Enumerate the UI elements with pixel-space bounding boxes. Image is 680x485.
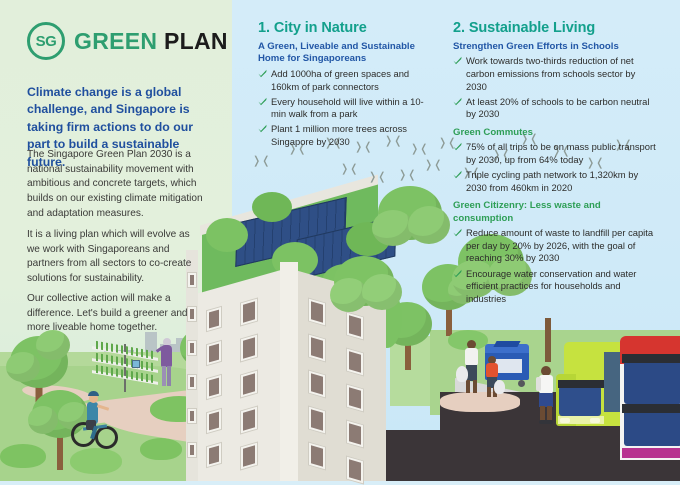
column-title: 2. Sustainable Living	[453, 20, 658, 36]
list-item-text: 75% of all trips to be on mass public tr…	[466, 141, 656, 165]
logo-wordmark: GREEN PLAN	[74, 28, 228, 55]
column-title: 1. City in Nature	[258, 20, 438, 36]
check-icon	[453, 142, 462, 151]
column-sustainable-living: 2. Sustainable Living Strengthen Green E…	[453, 20, 658, 311]
list-item: Plant 1 million more trees across Singap…	[258, 123, 438, 148]
check-icon	[453, 56, 462, 65]
check-icon	[258, 69, 267, 78]
intro-paragraph-1: The Singapore Green Plan 2030 is a natio…	[27, 148, 205, 221]
cyclist-on-bicycle	[70, 390, 122, 448]
list-item-text: Work towards two-thirds reduction of net…	[466, 55, 635, 91]
bird-icon: ❭❬	[398, 170, 416, 181]
list-item: Add 1000ha of green spaces and 160km of …	[258, 68, 438, 93]
list-item-text: Every household will live within a 10-mi…	[271, 96, 424, 120]
tree	[330, 252, 400, 342]
list-item: Work towards two-thirds reduction of net…	[453, 55, 658, 93]
brand-logo: SG GREEN PLAN	[27, 22, 228, 60]
logo-mark-text: SG	[36, 33, 57, 50]
list-item: Triple cycling path network to 1,320km b…	[453, 169, 658, 194]
double-decker-bus	[620, 330, 680, 480]
sg-circle-logo: SG	[27, 22, 65, 60]
check-icon	[453, 170, 462, 179]
bullet-list: Work towards two-thirds reduction of net…	[453, 55, 658, 120]
section-heading: Strengthen Green Efforts in Schools	[453, 41, 658, 53]
check-icon	[453, 269, 462, 278]
tree	[540, 318, 556, 362]
window	[187, 408, 197, 424]
list-item: At least 20% of schools to be carbon neu…	[453, 96, 658, 121]
section-heading: Green Citizenry: Less waste and consumpt…	[453, 200, 658, 225]
bird-icon: ❭❬	[252, 156, 270, 167]
check-icon	[258, 124, 267, 133]
check-icon	[258, 97, 267, 106]
intro-paragraph-3: Our collective action will make a differ…	[27, 292, 205, 336]
list-item-text: Reduce amount of waste to landfill per c…	[466, 227, 653, 263]
list-item: Encourage water conservation and water e…	[453, 268, 658, 306]
resident-with-waste-bag	[462, 340, 482, 394]
window	[187, 374, 197, 390]
farm-worker	[160, 338, 174, 386]
list-item-text: At least 20% of schools to be carbon neu…	[466, 96, 649, 120]
child-with-waste-bag	[484, 356, 502, 398]
list-item: Reduce amount of waste to landfill per c…	[453, 227, 658, 265]
column-city-in-nature: 1. City in Nature A Green, Liveable and …	[258, 20, 438, 155]
window	[187, 442, 197, 458]
check-icon	[453, 97, 462, 106]
bird-icon: ❭❬	[424, 160, 442, 171]
park-path	[440, 392, 520, 412]
vertical-farm	[92, 344, 162, 392]
bush	[140, 438, 182, 460]
student-with-backpack	[536, 366, 556, 424]
list-item-text: Plant 1 million more trees across Singap…	[271, 123, 407, 147]
bullet-list: Add 1000ha of green spaces and 160km of …	[258, 68, 438, 149]
list-item: Every household will live within a 10-mi…	[258, 96, 438, 121]
window	[187, 340, 197, 356]
list-item-text: Triple cycling path network to 1,320km b…	[466, 169, 638, 193]
section-heading: A Green, Liveable and Sustainable Home f…	[258, 41, 438, 66]
intro-paragraph-2: It is a living plan which will evolve as…	[27, 228, 205, 287]
bush	[70, 448, 122, 474]
bird-icon: ❭❬	[368, 172, 386, 183]
check-icon	[453, 228, 462, 237]
list-item-text: Add 1000ha of green spaces and 160km of …	[271, 68, 409, 92]
logo-word-dark: PLAN	[164, 28, 228, 54]
logo-word-green: GREEN	[74, 28, 157, 54]
bullet-list: 75% of all trips to be on mass public tr…	[453, 141, 658, 194]
bush	[0, 444, 46, 468]
infographic-page: ❭❬ ❭❬ ❭❬ ❭❬ ❭❬ ❭❬ ❭❬ ❭❬ ❭❬ ❭❬ ❭❬ ❭❬ ❭❬ ❭…	[0, 0, 680, 481]
section-heading: Green Commutes	[453, 127, 658, 139]
list-item: 75% of all trips to be on mass public tr…	[453, 141, 658, 166]
bullet-list: Reduce amount of waste to landfill per c…	[453, 227, 658, 305]
list-item-text: Encourage water conservation and water e…	[466, 268, 636, 304]
bird-icon: ❭❬	[340, 164, 358, 175]
